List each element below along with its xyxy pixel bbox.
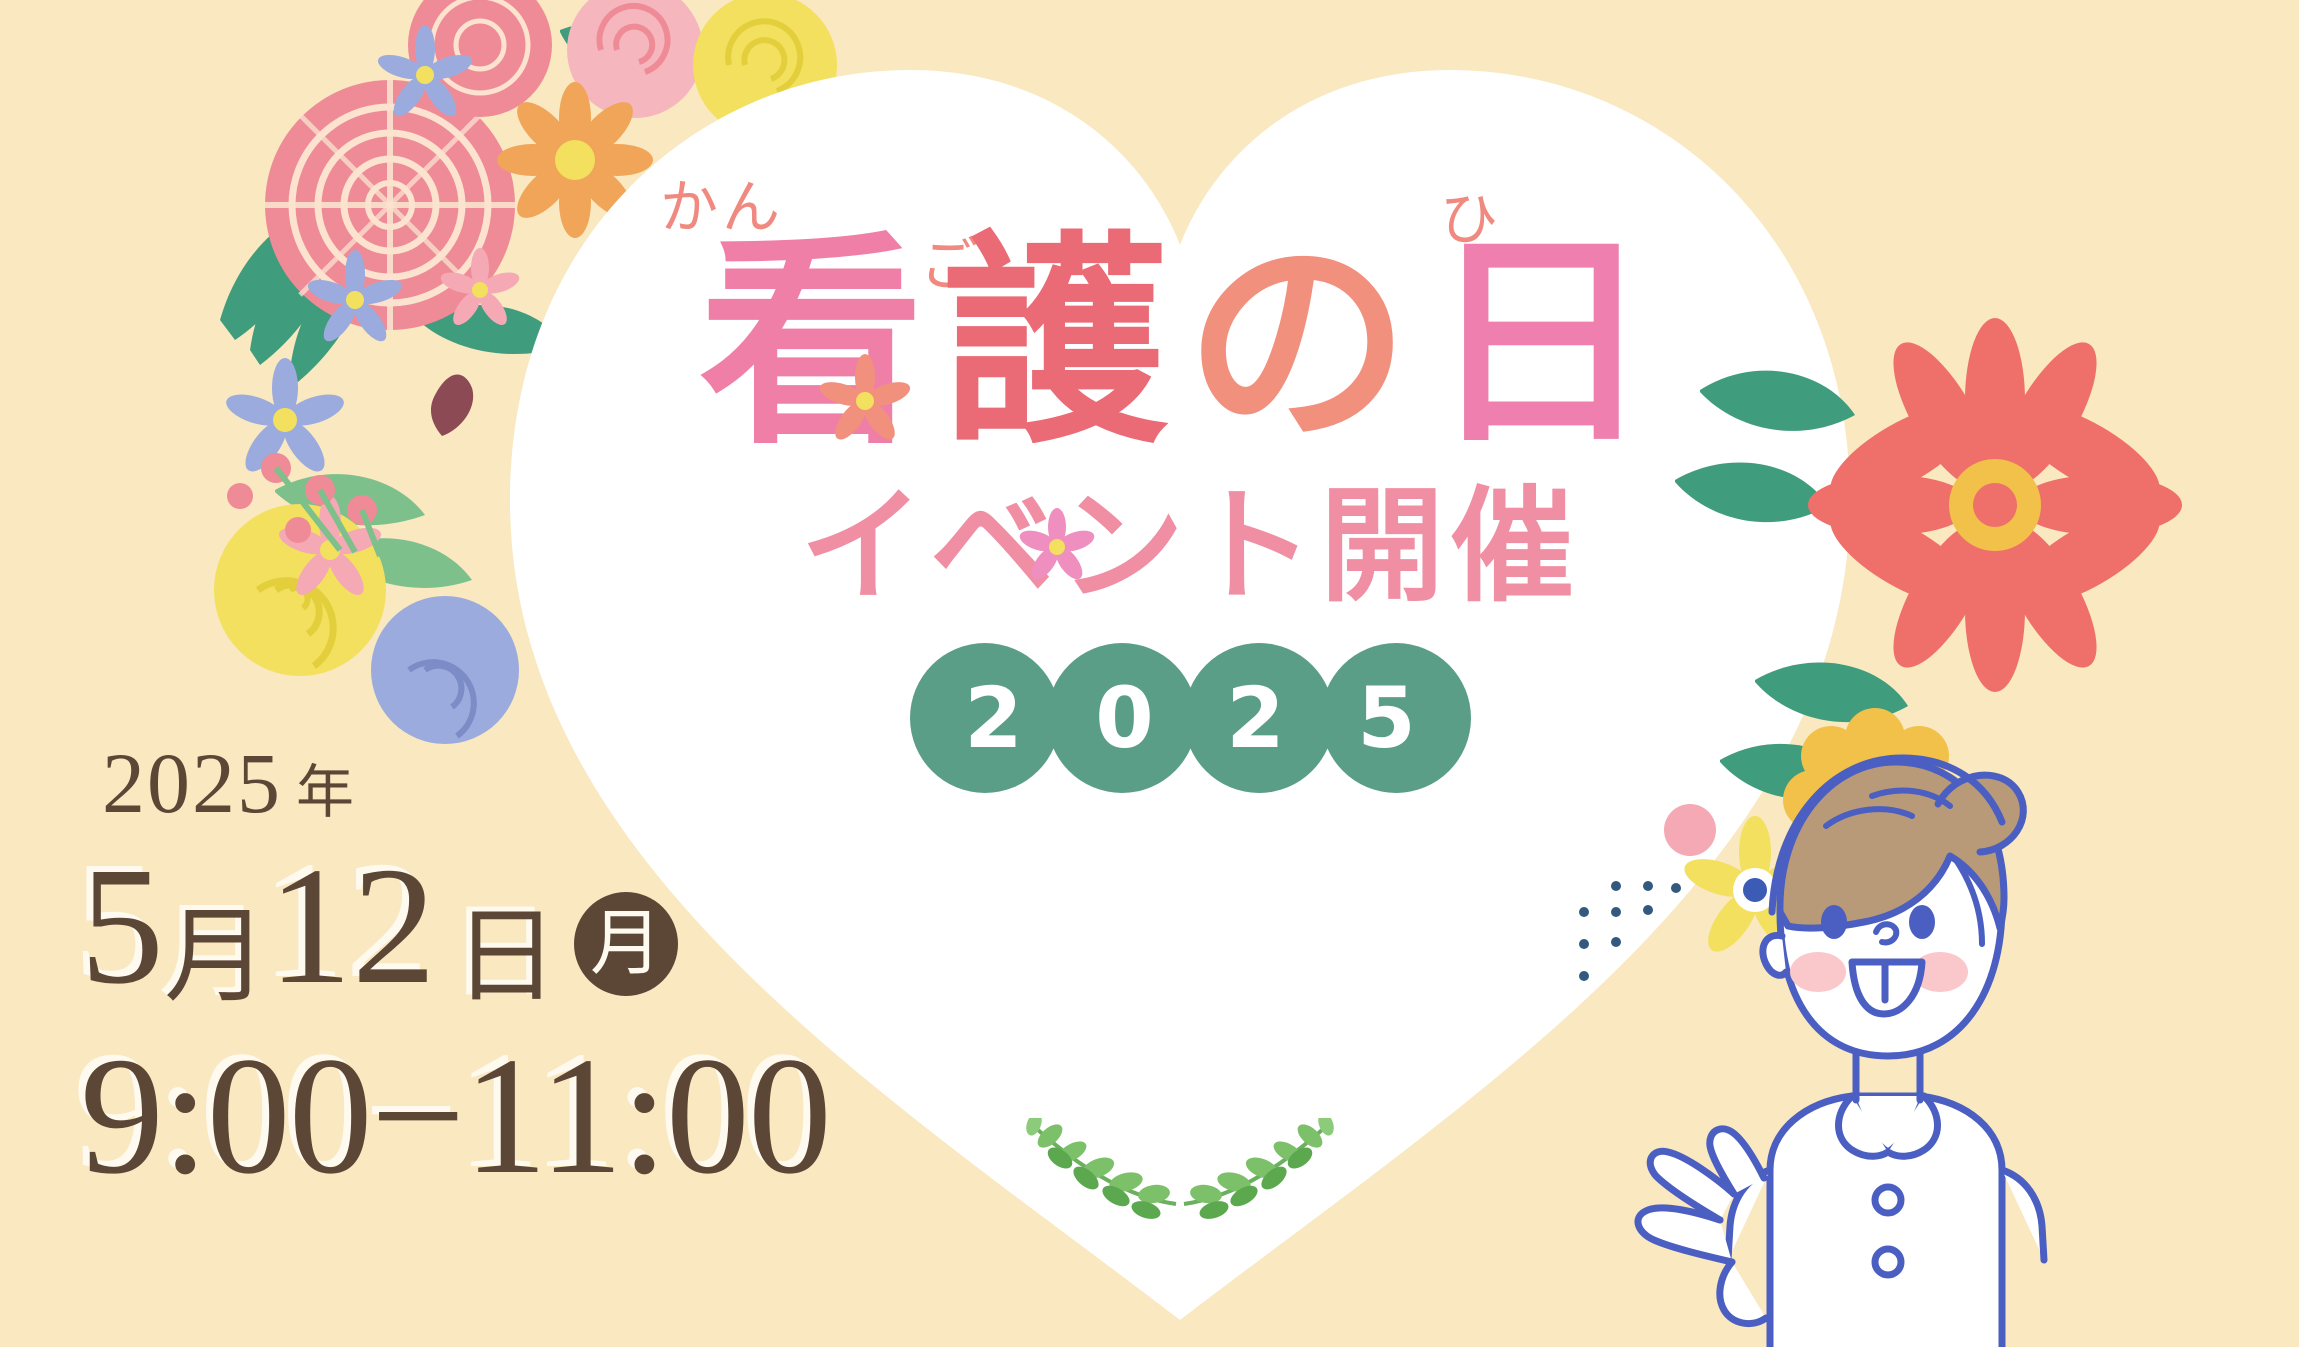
year-number: 2025 bbox=[102, 735, 282, 831]
small-flower-icon-1 bbox=[822, 358, 908, 444]
month-number: 5 bbox=[80, 842, 164, 1010]
month-unit: 月 bbox=[164, 906, 268, 1010]
kanji-no: の bbox=[1185, 213, 1428, 475]
event-date-block: 2025年 5月12日月 9:00−11:00 bbox=[80, 740, 1020, 1200]
nursing-day-poster: かん ご ひ 看護の日 bbox=[0, 0, 2299, 1347]
badge-digit: 2 bbox=[1202, 669, 1309, 767]
event-time: 9:00−11:00 bbox=[80, 1032, 1020, 1200]
day-unit: 日 bbox=[454, 906, 558, 1010]
date-line: 5月12日月 bbox=[80, 842, 1020, 1010]
kanji-go: 護 bbox=[942, 213, 1185, 475]
cheek-left bbox=[1790, 952, 1846, 992]
year-unit: 年 bbox=[296, 760, 356, 825]
badge-digit: 5 bbox=[1333, 669, 1440, 767]
small-flower-icon-2 bbox=[1020, 510, 1094, 584]
eye-left bbox=[1821, 905, 1847, 939]
main-title: 看護の日 bbox=[590, 232, 1780, 457]
weekday-badge: 月 bbox=[574, 892, 678, 996]
event-subtitle: イベント開催 bbox=[600, 485, 1780, 609]
nurse-illustration bbox=[1620, 700, 2120, 1347]
badge-digit: 0 bbox=[1071, 669, 1178, 767]
day-number: 12 bbox=[268, 842, 436, 1010]
kanji-hi: 日 bbox=[1428, 213, 1671, 475]
laurel-wreath-icon bbox=[1020, 1118, 1340, 1228]
title-block: かん ご ひ 看護の日 bbox=[600, 160, 1780, 793]
year-line: 2025年 bbox=[102, 740, 1020, 826]
eye-right bbox=[1909, 905, 1935, 939]
